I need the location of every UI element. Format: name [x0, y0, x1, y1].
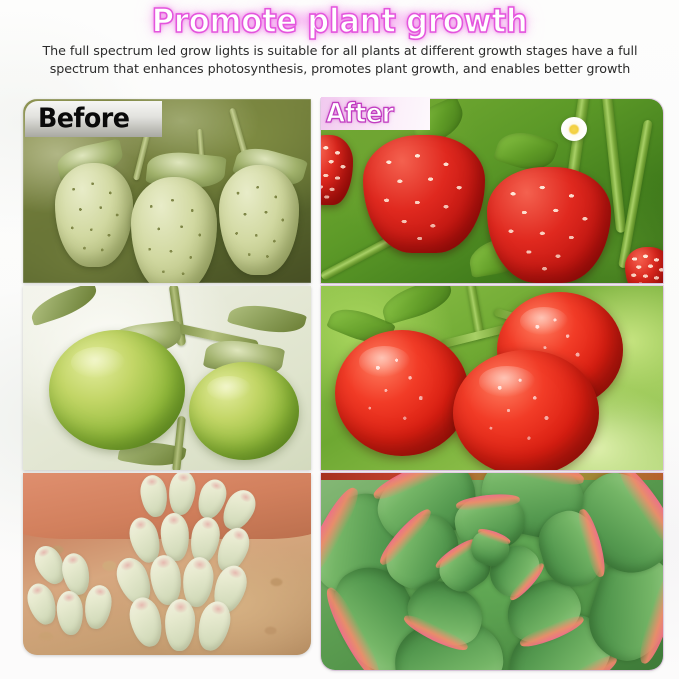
unripe-strawberry	[219, 165, 299, 275]
healthy-echeveria-photo	[321, 473, 663, 670]
unripe-strawberry	[131, 177, 217, 283]
red-tomato	[453, 350, 599, 470]
before-label-text: Before	[38, 104, 129, 134]
ripe-strawberry	[625, 247, 663, 283]
green-tomato-photo	[23, 286, 311, 470]
page-title: Promote plant growth	[24, 2, 655, 40]
pale-succulent-photo	[23, 473, 311, 655]
panel-before-succulent	[23, 473, 311, 655]
unripe-strawberry	[55, 163, 133, 267]
panel-after-tomatoes	[321, 286, 663, 470]
green-tomato	[49, 330, 185, 450]
red-tomato-photo	[321, 286, 663, 470]
red-tomato	[335, 330, 469, 456]
before-label-badge: Before	[25, 101, 162, 137]
after-label-badge: After	[321, 97, 430, 130]
panel-before-tomatoes	[23, 286, 311, 470]
panel-after-succulent	[321, 473, 663, 670]
water-droplets	[335, 330, 469, 456]
green-tomato	[189, 362, 299, 460]
promotional-product-image: Promote plant growth The full spectrum l…	[0, 0, 679, 679]
page-subtitle: The full spectrum led grow lights is sui…	[40, 42, 640, 77]
header-section: Promote plant growth The full spectrum l…	[0, 0, 679, 92]
water-droplets	[453, 350, 599, 470]
after-label-text: After	[326, 99, 393, 129]
ripe-strawberry	[363, 135, 485, 253]
strawberry-blossom	[561, 117, 587, 141]
ripe-strawberry	[487, 167, 611, 283]
